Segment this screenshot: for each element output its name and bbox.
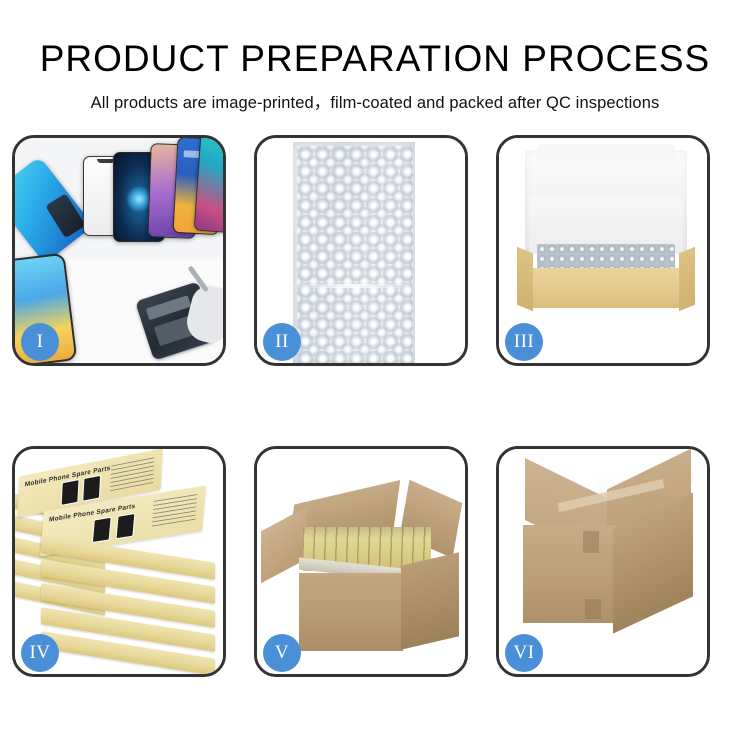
page-title: PRODUCT PREPARATION PROCESS bbox=[0, 0, 750, 80]
step-panel-3[interactable]: III bbox=[496, 135, 710, 366]
box-product-thumbnail-rear-1 bbox=[61, 479, 80, 506]
step-panel-6[interactable]: VI bbox=[496, 446, 710, 677]
lcd-screen-teal-wallpaper bbox=[194, 138, 223, 233]
box-spec-lines-front bbox=[152, 493, 198, 527]
bubble-wrapped-contents bbox=[537, 244, 675, 270]
step-badge-3: III bbox=[505, 323, 543, 361]
step-panel-5[interactable]: V bbox=[254, 446, 468, 677]
step-badge-5: V bbox=[263, 634, 301, 672]
process-steps-grid: I II III bbox=[12, 135, 738, 695]
box-spec-lines-rear bbox=[110, 456, 155, 491]
step-panel-4[interactable]: Mobile Phone Spare Parts Mobile Phone Sp… bbox=[12, 446, 226, 677]
inner-box-kraft-base bbox=[525, 268, 687, 308]
carton-side-face bbox=[401, 552, 459, 649]
carton-front-face bbox=[299, 573, 403, 651]
bubble-pattern-secondary bbox=[297, 146, 413, 363]
box-product-thumbnail-front-1 bbox=[92, 517, 112, 543]
carton-handle-tab-top bbox=[583, 531, 599, 553]
step-panel-1[interactable]: I bbox=[12, 135, 226, 366]
carton-handle-tab-bottom bbox=[585, 599, 601, 619]
bubble-wrap-sleeve bbox=[293, 142, 415, 363]
step-badge-2: II bbox=[263, 323, 301, 361]
page-subtitle: All products are image-printed，film-coat… bbox=[0, 80, 750, 113]
carton-front-face bbox=[523, 525, 615, 623]
box-product-thumbnail-front-2 bbox=[116, 513, 136, 539]
box-product-thumbnail-rear-2 bbox=[82, 475, 101, 502]
page-header: PRODUCT PREPARATION PROCESS All products… bbox=[0, 0, 750, 130]
step-badge-6: VI bbox=[505, 634, 543, 672]
step-badge-1: I bbox=[21, 323, 59, 361]
bubble-wrap-seam bbox=[293, 284, 415, 288]
step-badge-4: IV bbox=[21, 634, 59, 672]
step-panel-2[interactable]: II bbox=[254, 135, 468, 366]
